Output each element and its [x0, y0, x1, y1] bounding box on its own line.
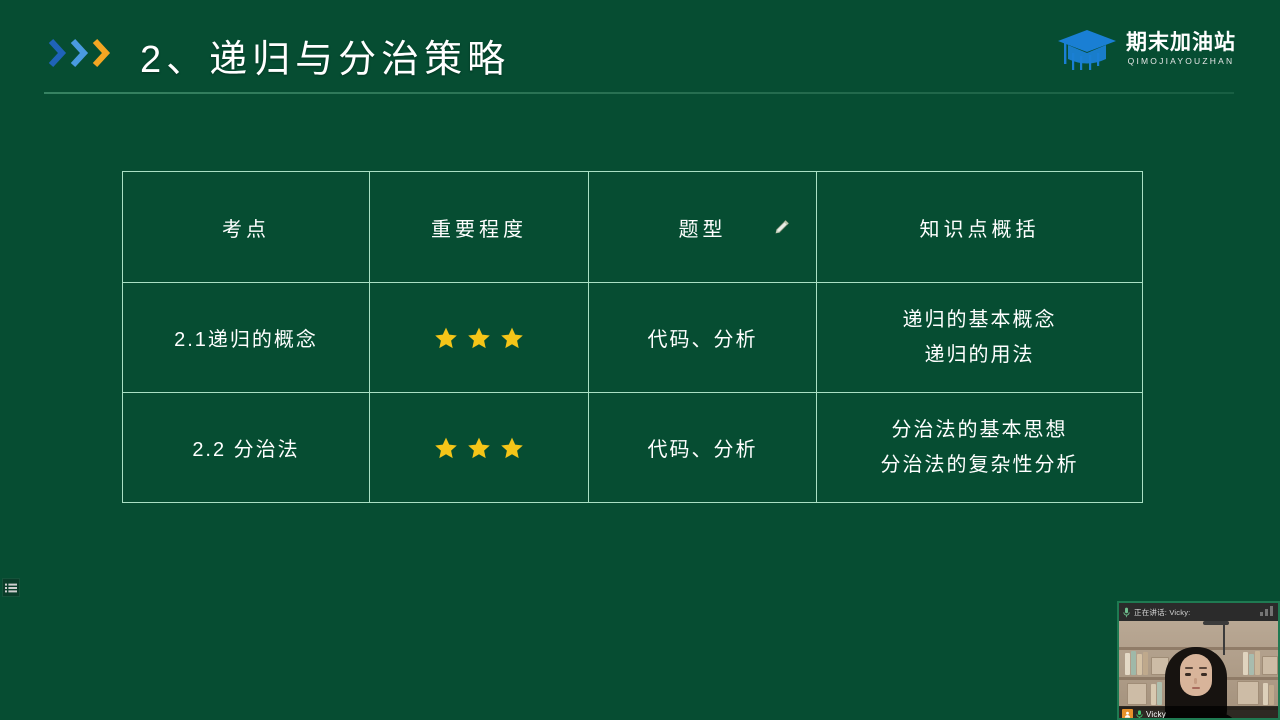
table-row: 2.1递归的概念 代码、分析 递归的基本概念 递归的用法	[123, 283, 1143, 393]
page-title: 2、递归与分治策略	[140, 28, 510, 83]
video-feed: Vicky	[1119, 621, 1278, 720]
slide-header: 2、递归与分治策略 期末加油站 QIMOJIAYOUZHAN	[0, 0, 1280, 96]
brand-name: 期末加油站	[1126, 32, 1236, 54]
column-header-summary: 知识点概括	[817, 172, 1143, 283]
table-row: 2.2 分治法 代码、分析 分治法的基本思想 分治法的复杂性分析	[123, 393, 1143, 503]
chevron-right-icon-1	[48, 38, 68, 68]
star-icon	[467, 436, 491, 460]
video-bottombar: Vicky	[1119, 706, 1278, 720]
star-rating	[376, 326, 582, 350]
summary-line: 递归的用法	[823, 338, 1136, 372]
participant-name: Vicky	[1146, 710, 1166, 719]
chevron-right-icon-3	[92, 38, 112, 68]
brand-pinyin: QIMOJIAYOUZHAN	[1128, 56, 1235, 66]
microphone-icon	[1123, 607, 1130, 618]
cell-summary: 递归的基本概念 递归的用法	[817, 283, 1143, 393]
cell-summary: 分治法的基本思想 分治法的复杂性分析	[817, 393, 1143, 503]
list-menu-icon	[5, 583, 17, 593]
star-icon	[434, 326, 458, 350]
cell-topic: 2.2 分治法	[123, 393, 370, 503]
video-topbar: 正在讲话: Vicky:	[1119, 603, 1278, 621]
column-header-question-type-label: 题型	[679, 219, 727, 241]
star-icon	[500, 436, 524, 460]
summary-line: 分治法的复杂性分析	[823, 448, 1136, 482]
sidebar-toggle-tab[interactable]	[2, 578, 20, 597]
cell-question-type: 代码、分析	[589, 393, 817, 503]
star-rating	[376, 436, 582, 460]
graduation-cap-icon	[1056, 26, 1118, 72]
star-icon	[467, 326, 491, 350]
video-participant-panel[interactable]: 正在讲话: Vicky:	[1117, 601, 1280, 720]
user-badge-icon	[1122, 709, 1133, 720]
summary-line: 递归的基本概念	[823, 303, 1136, 337]
signal-bars-icon	[1260, 606, 1273, 616]
header-divider	[44, 92, 1234, 94]
column-header-importance: 重要程度	[370, 172, 589, 283]
cell-importance	[370, 283, 589, 393]
star-icon	[500, 326, 524, 350]
cell-question-type: 代码、分析	[589, 283, 817, 393]
microphone-icon	[1136, 710, 1143, 719]
chevron-right-icon-2	[70, 38, 90, 68]
brand-logo: 期末加油站 QIMOJIAYOUZHAN	[1056, 26, 1236, 72]
cell-importance	[370, 393, 589, 503]
exam-points-table: 考点 重要程度 题型 知识点概括 2.1递归的概念 代	[122, 171, 1143, 503]
chevron-logo	[48, 38, 112, 68]
cell-topic: 2.1递归的概念	[123, 283, 370, 393]
table-header-row: 考点 重要程度 题型 知识点概括	[123, 172, 1143, 283]
speaking-label: 正在讲话: Vicky:	[1134, 607, 1190, 618]
column-header-question-type: 题型	[589, 172, 817, 283]
column-header-topic: 考点	[123, 172, 370, 283]
summary-line: 分治法的基本思想	[823, 413, 1136, 447]
star-icon	[434, 436, 458, 460]
pencil-icon[interactable]	[774, 219, 790, 235]
